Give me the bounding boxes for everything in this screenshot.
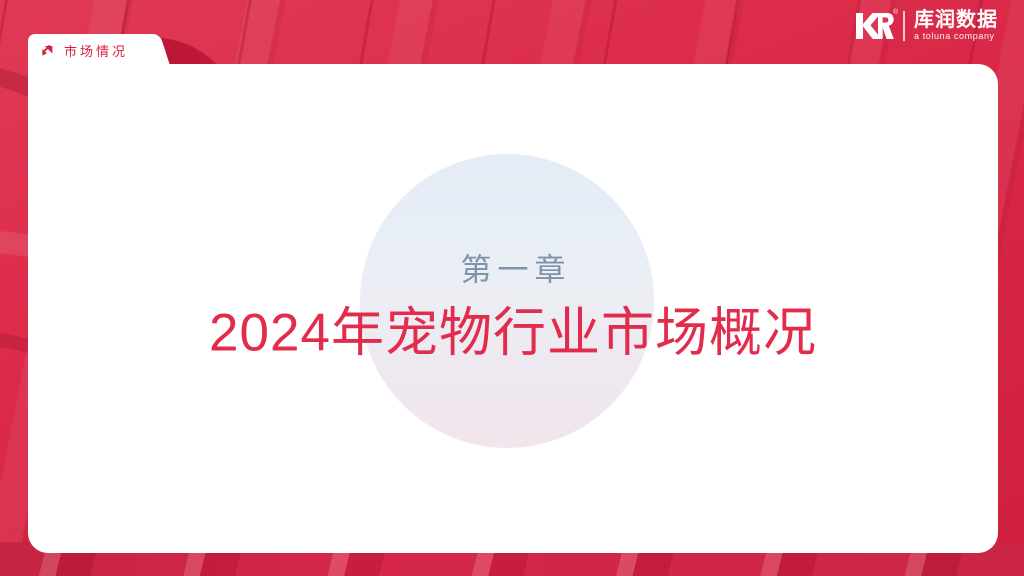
brand-logo: ® 库润数据 a toluna company xyxy=(854,10,998,42)
arrow-up-right-icon xyxy=(40,43,55,58)
logo-company-name-cn: 库润数据 xyxy=(914,10,998,31)
chapter-number-label: 第一章 xyxy=(28,250,998,290)
chapter-heading-block: 第一章 2024年宠物行业市场概况 xyxy=(28,250,998,367)
logo-divider xyxy=(903,11,905,41)
trademark-symbol: ® xyxy=(893,9,898,16)
section-tab-label: 市场情况 xyxy=(64,41,128,60)
section-tab-market-situation[interactable]: 市场情况 xyxy=(28,34,154,66)
logo-company-name-en: a toluna company xyxy=(914,32,998,41)
logo-wordmark: 库润数据 a toluna company xyxy=(914,10,998,41)
chapter-title: 2024年宠物行业市场概况 xyxy=(28,301,998,367)
content-card: 第一章 2024年宠物行业市场概况 xyxy=(28,64,998,553)
kr-monogram-icon: ® xyxy=(854,10,894,42)
presentation-slide: ® 库润数据 a toluna company 市场情况 第一章 2024年宠物… xyxy=(0,0,1024,576)
